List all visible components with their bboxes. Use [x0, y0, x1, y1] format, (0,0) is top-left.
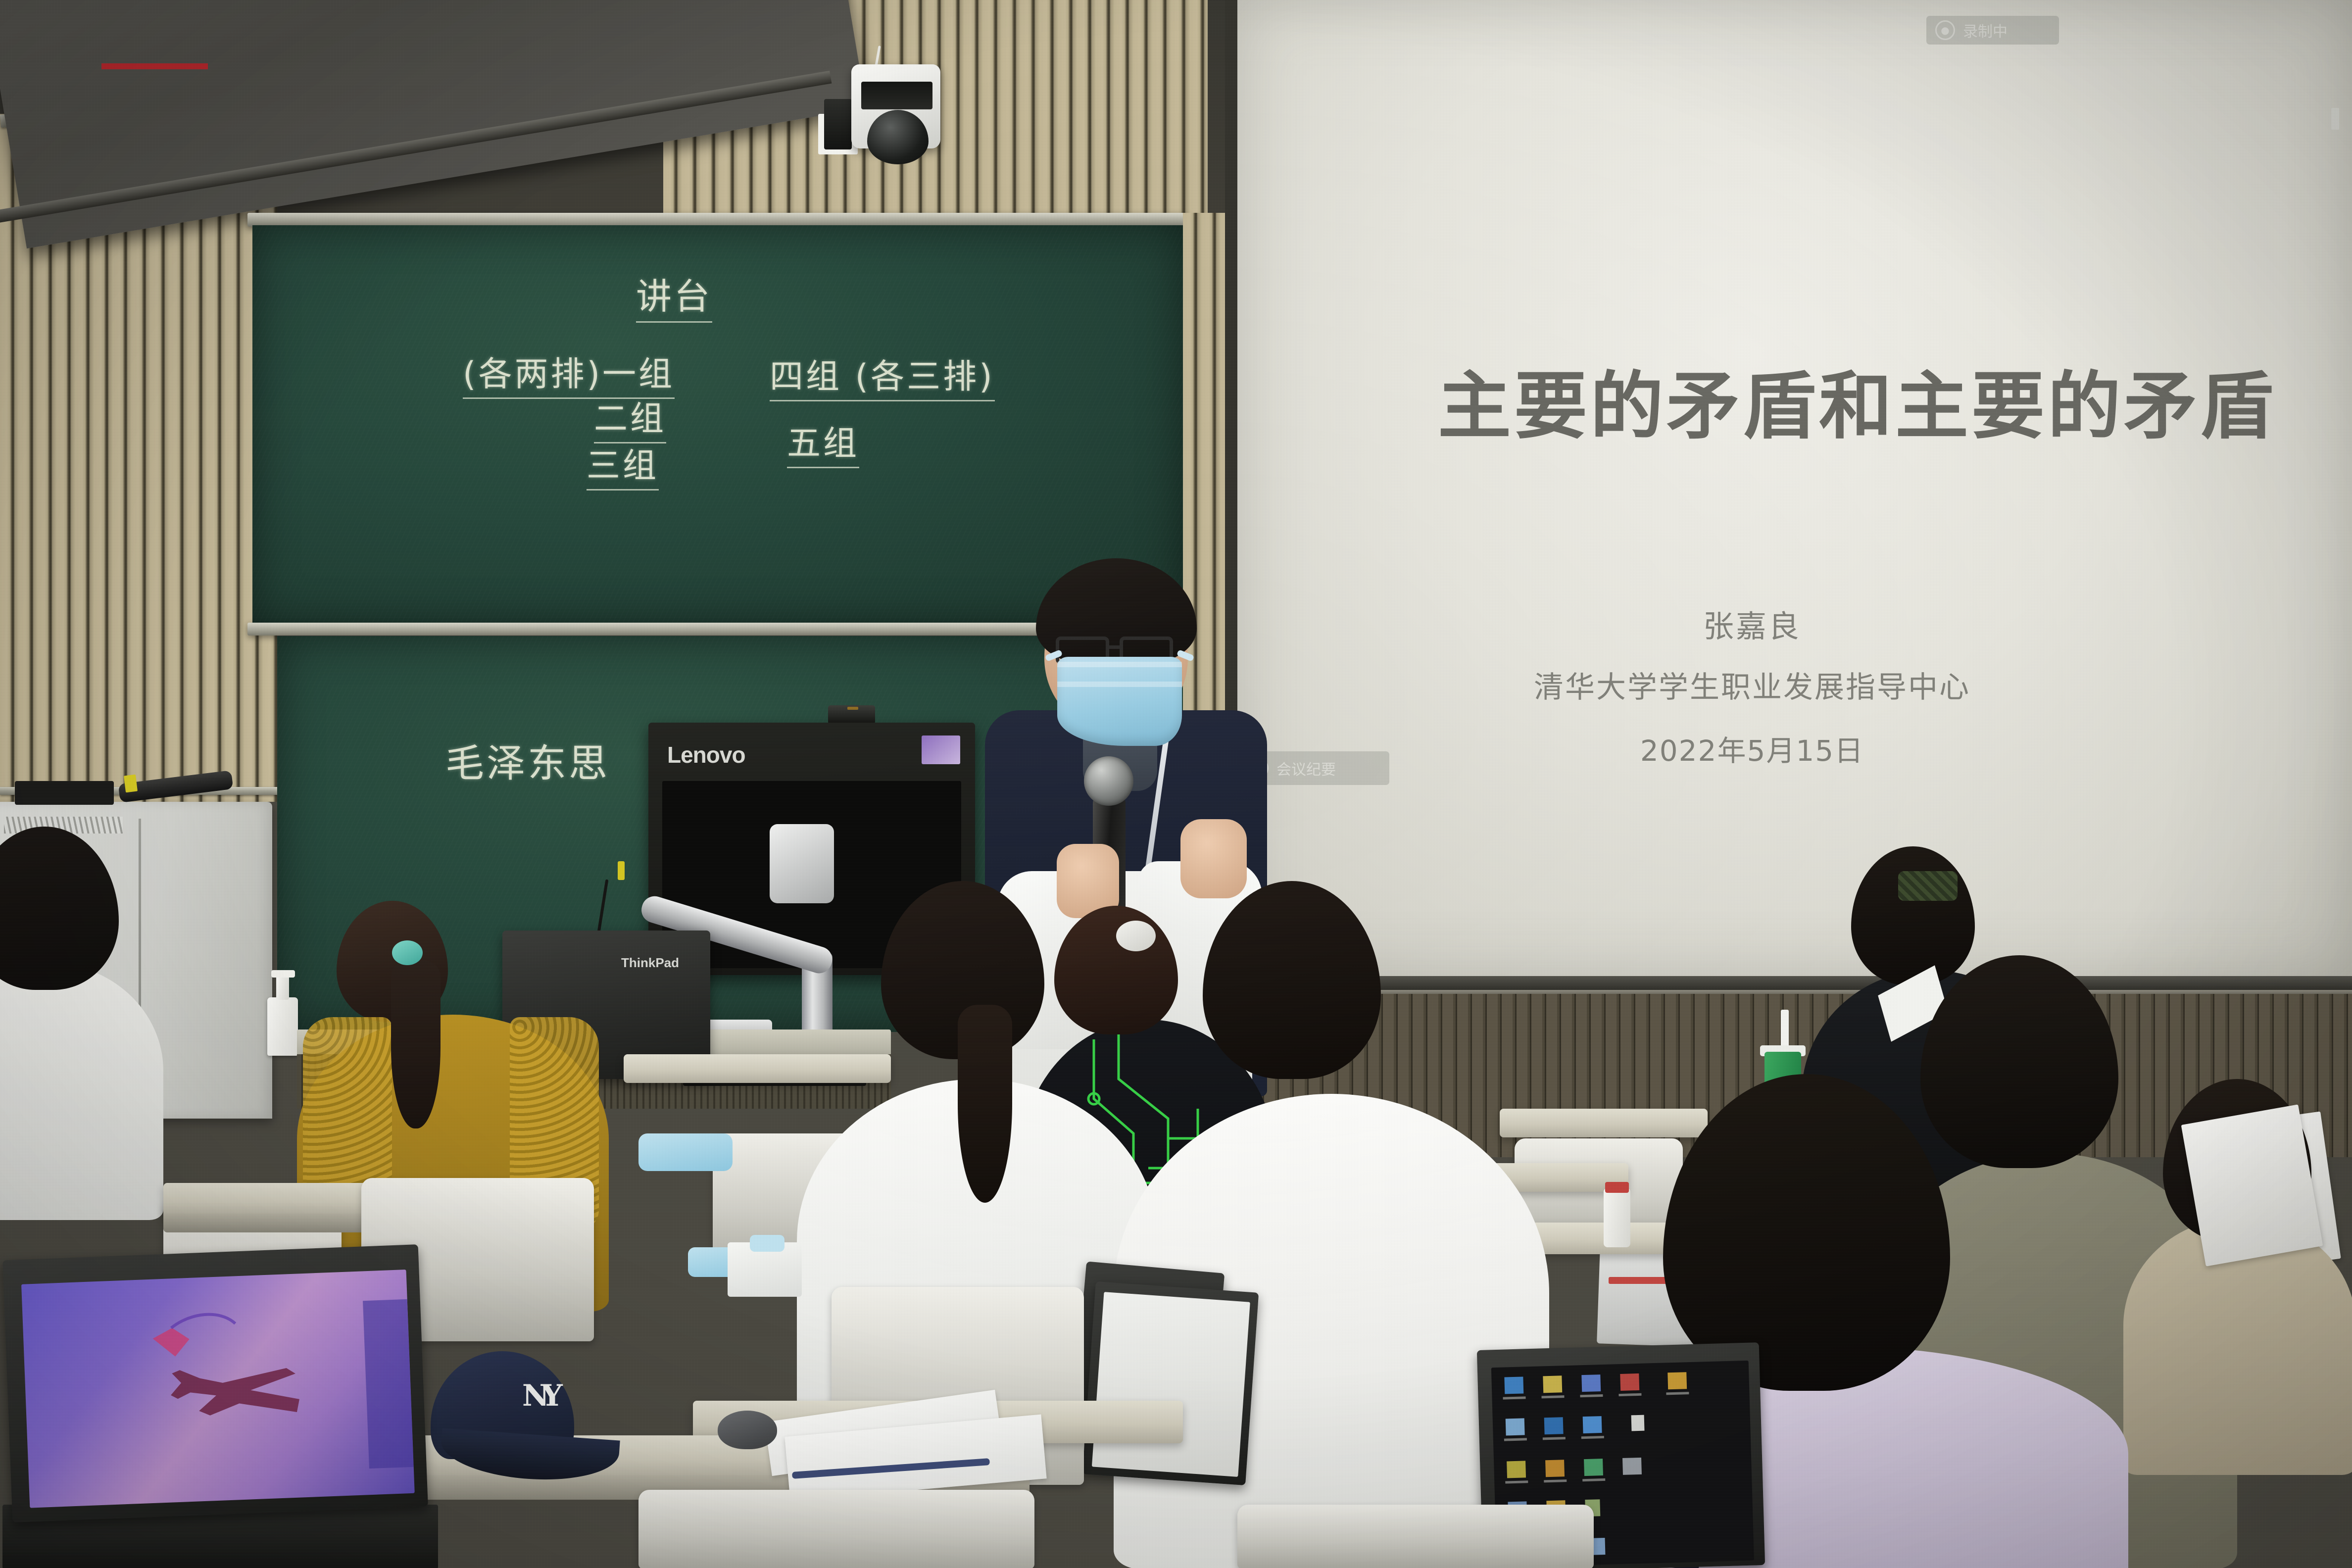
- student-ponytail-hair-tail: [958, 1005, 1012, 1203]
- blackboard-upper: [252, 225, 1183, 626]
- microphone-yellow-band: [124, 775, 138, 793]
- slide-presenter-name: 张嘉良: [1455, 601, 2049, 646]
- blackboard-group-4: 四组 (各三排): [770, 349, 995, 401]
- student-circuit-hair-clip: [1116, 921, 1156, 951]
- desk-right-far: [1500, 1109, 1708, 1137]
- laptop-left-lid[interactable]: [2, 1244, 428, 1522]
- student-mustard-ponytail: [391, 960, 441, 1128]
- laptop-center-screen[interactable]: [1092, 1292, 1250, 1477]
- blackboard-group-3: 三组: [587, 438, 659, 490]
- monitor-sticker: [922, 735, 960, 764]
- record-icon: ●: [1935, 20, 1955, 40]
- student-hoodie-headband: [1898, 871, 1958, 901]
- hand-sanitizer-bottle[interactable]: [267, 997, 298, 1056]
- computer-mouse[interactable]: [718, 1411, 777, 1449]
- hair-scrunchie: [392, 940, 423, 965]
- camera-ir-window: [861, 82, 932, 109]
- slide-date: 2022年5月15日: [1455, 728, 2049, 769]
- monitor-arm-head: [770, 824, 834, 903]
- sanitizer-nozzle[interactable]: [271, 970, 295, 978]
- cabinet-top-black-box: [15, 781, 114, 805]
- desk-mid-back: [624, 1054, 891, 1083]
- baseball-cap-logo: NY: [522, 1380, 561, 1416]
- thinkpad-logo: ThinkPad: [621, 955, 679, 971]
- blackboard-heading: 讲台: [636, 267, 712, 323]
- chair-front-2[interactable]: [1237, 1505, 1594, 1568]
- drink-straw: [1781, 1010, 1789, 1050]
- overlay-badge-minutes-label: 会议纪要: [1276, 757, 1336, 779]
- lenovo-logo: Lenovo: [667, 741, 745, 768]
- laptop-center-lid[interactable]: [1082, 1281, 1259, 1485]
- blackboard-group-5: 五组: [787, 416, 859, 468]
- overlay-badge-recording-label: 录制中: [1963, 19, 2008, 41]
- projection-screen: [1237, 0, 2352, 978]
- airplane-icon: [21, 1270, 415, 1508]
- speaker-raised-hand: [1180, 819, 1247, 898]
- power-adapter-plug: [824, 99, 852, 149]
- speaker-glasses-bridge: [1109, 645, 1120, 649]
- monitor-red-indicator-bar: [101, 63, 208, 69]
- laptop-left-screen[interactable]: [21, 1270, 415, 1508]
- microphone-head[interactable]: [1084, 756, 1133, 806]
- monitor-side-tag: [2331, 108, 2339, 130]
- slide-title: 主要的矛盾和主要的矛盾: [1438, 346, 2276, 453]
- notebook-far-right[interactable]: [2181, 1104, 2323, 1266]
- water-bottle-cap: [1605, 1182, 1629, 1193]
- water-bottle[interactable]: [1604, 1188, 1630, 1247]
- slide-organization: 清华大学学生职业发展指导中心: [1455, 663, 2049, 706]
- laptop-right-back-sticker: [1609, 1277, 1668, 1284]
- blackboard-frame-top: [247, 213, 1188, 227]
- speaker-face-mask: [1057, 657, 1182, 746]
- blackboard-group-2: 二组: [594, 391, 666, 443]
- tissue-sheet: [750, 1235, 784, 1252]
- overlay-badge-recording: ● 录制中: [1926, 16, 2059, 45]
- blackboard-lower-left-text: 毛泽东思: [445, 733, 610, 788]
- classroom-photo: 2022年5月15日 讲台 (各两排)一组 二组 三组 四组 (各三排) 五组 …: [0, 0, 2352, 1568]
- spare-face-mask[interactable]: [638, 1133, 733, 1171]
- cable-connector-yellow: [618, 861, 625, 880]
- chair-front-1[interactable]: [638, 1490, 1034, 1568]
- webcam-led: [847, 707, 858, 710]
